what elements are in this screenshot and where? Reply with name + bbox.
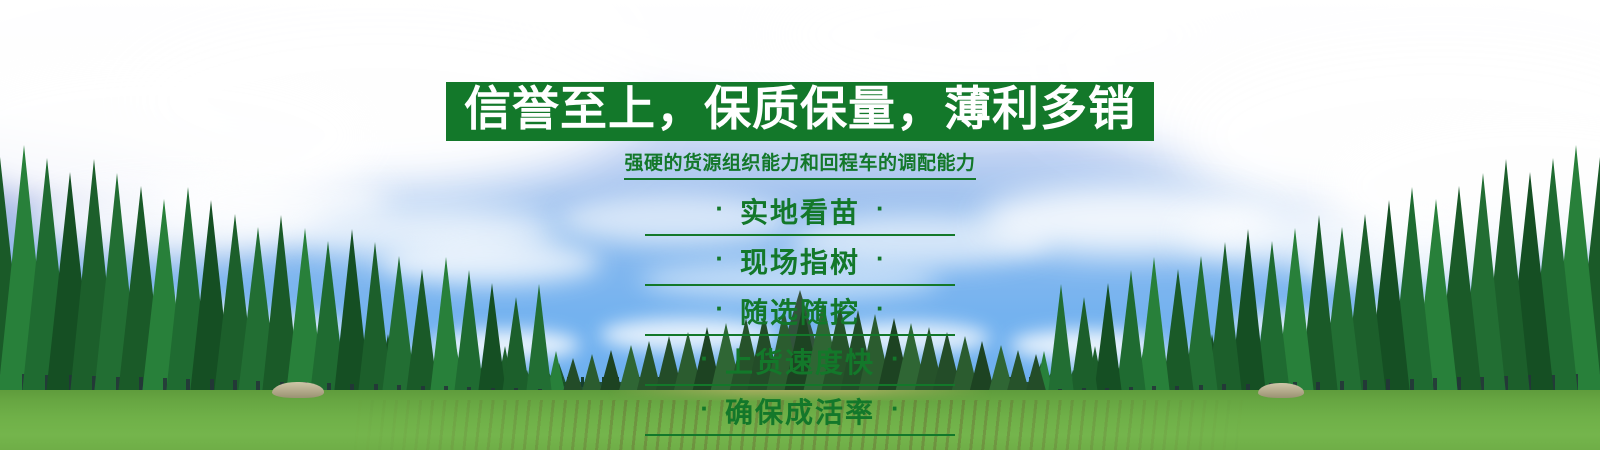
bullet-dot-icon: · xyxy=(891,345,900,371)
field-rock xyxy=(272,382,324,398)
feature-label: 现场指树 xyxy=(740,241,860,281)
forest-left xyxy=(0,0,560,450)
bullet-dot-icon: · xyxy=(876,295,885,321)
bullet-dot-icon: · xyxy=(715,295,724,321)
forest-right xyxy=(1040,0,1600,450)
feature-item-1[interactable]: ·实地看苗· xyxy=(645,190,955,236)
feature-label: 实地看苗 xyxy=(740,191,860,231)
promo-banner: 信誉至上，保质保量，薄利多销 强硬的货源组织能力和回程车的调配能力 ·实地看苗·… xyxy=(0,0,1600,450)
bullet-dot-icon: · xyxy=(891,395,900,421)
feature-item-3[interactable]: ·随选随挖· xyxy=(645,290,955,336)
bullet-dot-icon: · xyxy=(700,345,709,371)
tree-shape xyxy=(1048,284,1074,394)
feature-label: 上货速度快 xyxy=(725,341,875,381)
bullet-dot-icon: · xyxy=(715,195,724,221)
feature-item-4[interactable]: ·上货速度快· xyxy=(645,340,955,386)
feature-item-2[interactable]: ·现场指树· xyxy=(645,240,955,286)
headline-text: 信誉至上，保质保量，薄利多销 xyxy=(464,86,1136,133)
field-rock xyxy=(1258,383,1304,398)
headline-bar: 信誉至上，保质保量，薄利多销 xyxy=(446,82,1154,141)
bullet-dot-icon: · xyxy=(715,245,724,271)
tree-shape xyxy=(526,284,552,394)
feature-list: ·实地看苗··现场指树··随选随挖··上货速度快··确保成活率· xyxy=(645,190,955,440)
feature-label: 随选随挖 xyxy=(740,291,860,331)
feature-label: 确保成活率 xyxy=(725,391,875,431)
bullet-dot-icon: · xyxy=(700,395,709,421)
bullet-dot-icon: · xyxy=(876,195,885,221)
bullet-dot-icon: · xyxy=(876,245,885,271)
tree-shape xyxy=(1094,283,1122,394)
tree-shape xyxy=(1070,297,1098,394)
feature-item-5[interactable]: ·确保成活率· xyxy=(645,390,955,436)
subtitle-text: 强硬的货源组织能力和回程车的调配能力 xyxy=(624,148,975,180)
